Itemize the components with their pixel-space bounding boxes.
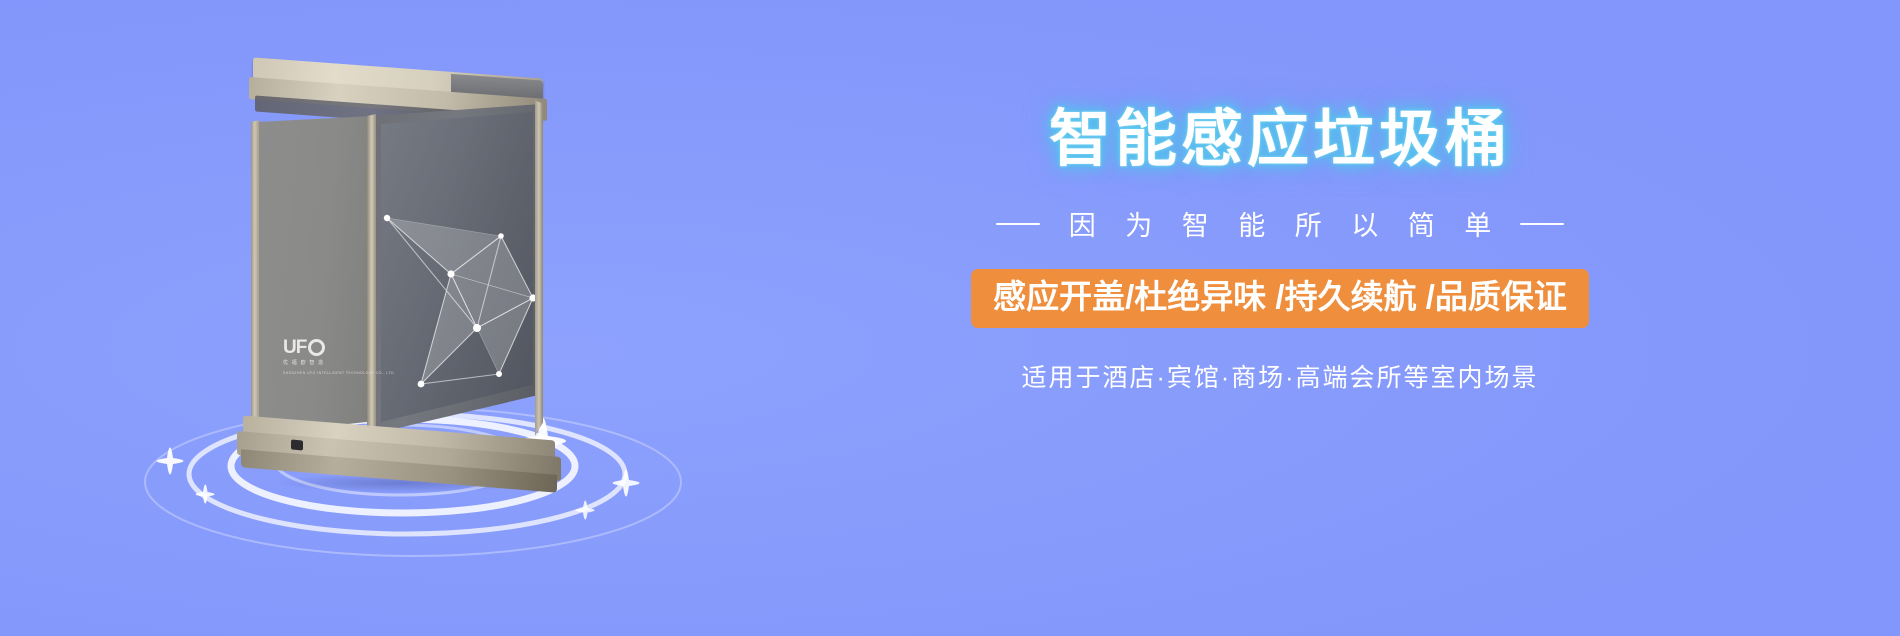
logo-wordmark: UF [283,338,306,357]
banner-copy: 智能感应垃圾桶 因 为 智 能 所 以 简 单 感应开盖/杜绝异味 /持久续航 … [880,105,1680,394]
logo-english-text: SHENZHEN UFO INTELLIGENT TECHNOLOGY CO.,… [283,371,361,376]
bin-edge-left [251,116,259,436]
trash-bin: UF 优 福 欧 智 造 SHENZHEN UFO INTELLIGENT TE… [235,58,565,478]
feature-badge: 感应开盖/杜绝异味 /持久续航 /品质保证 [971,269,1589,328]
feature-badge-text: 感应开盖/杜绝异味 /持久续航 /品质保证 [993,278,1567,315]
product-visual: UF 优 福 欧 智 造 SHENZHEN UFO INTELLIGENT TE… [95,40,735,540]
subtitle-text: 因 为 智 能 所 以 简 单 [1058,204,1503,243]
polygon-network-graphic [381,178,541,418]
sensor-window [291,440,303,451]
bin-edge-center [367,106,376,436]
bin-edge-right [535,100,543,436]
rule-right-icon [1520,223,1564,225]
promo-banner: UF 优 福 欧 智 造 SHENZHEN UFO INTELLIGENT TE… [0,0,1900,636]
logo-chinese-text: 优 福 欧 智 造 [283,359,361,366]
ufo-brand-logo: UF 优 福 欧 智 造 SHENZHEN UFO INTELLIGENT TE… [283,338,361,396]
usage-scenarios-text: 适用于酒店·宾馆·商场·高端会所等室内场景 [880,358,1680,394]
ring-icon [308,339,325,356]
rule-left-icon [996,223,1040,225]
page-title: 智能感应垃圾桶 [880,105,1680,174]
logo-mark: UF [283,338,361,357]
subtitle-row: 因 为 智 能 所 以 简 单 [880,204,1680,243]
